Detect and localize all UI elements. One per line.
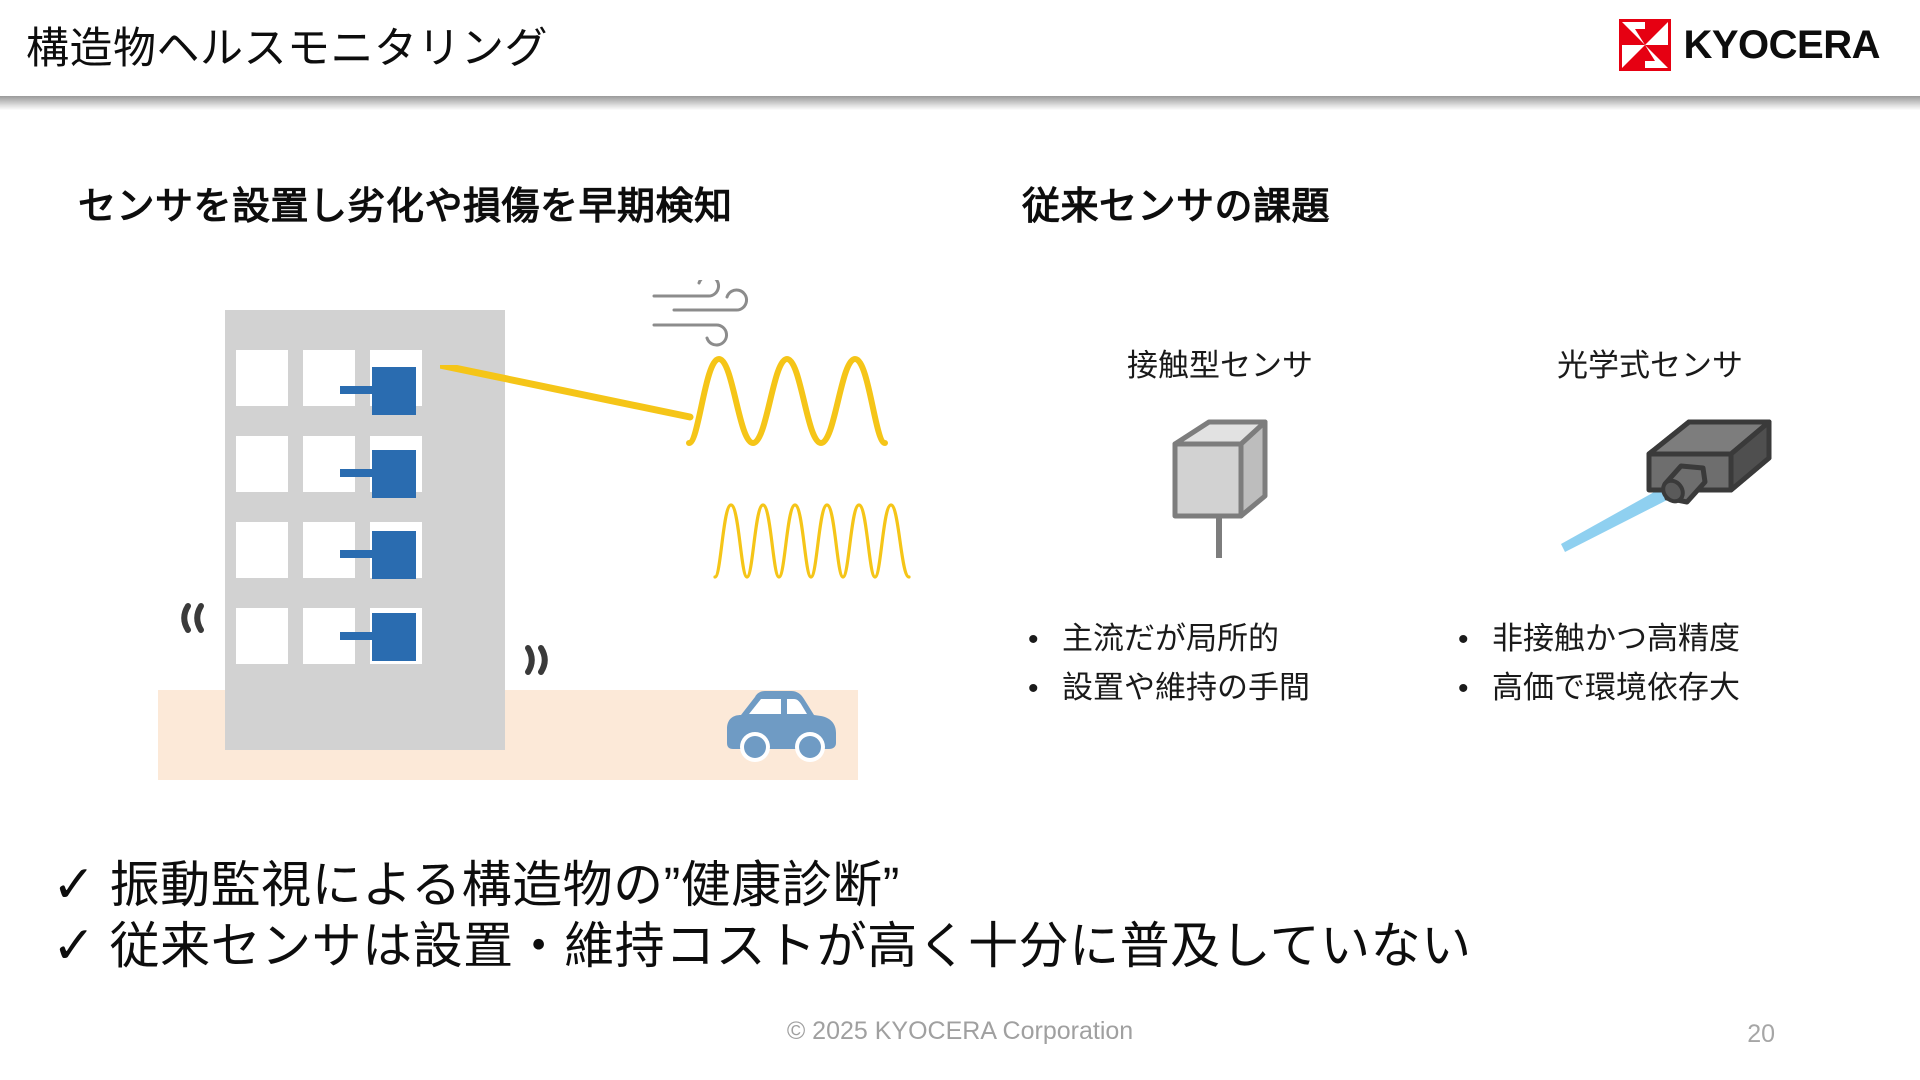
vibration-sensor	[372, 531, 416, 579]
bullet-marker-icon: •	[1458, 621, 1492, 659]
kyocera-logo-mark-icon	[1619, 19, 1671, 71]
wind-icon	[650, 280, 760, 350]
takeaway-item: ✓ 振動監視による構造物の”健康診断”	[52, 855, 1472, 916]
bullet-marker-icon: •	[1028, 670, 1062, 708]
optical-sensor-bullets: • 非接触かつ高精度 • 高価で環境依存大	[1458, 620, 1740, 718]
vibration-mark-right	[515, 642, 551, 683]
takeaway-text: 振動監視による構造物の”健康診断”	[110, 856, 900, 915]
header-divider	[0, 96, 1920, 110]
sensor-lead	[340, 632, 374, 640]
check-icon: ✓	[52, 916, 96, 977]
building-window	[236, 608, 288, 664]
waveform-low-frequency	[689, 359, 885, 443]
contact-sensor-label: 接触型センサ	[1010, 340, 1430, 385]
footer-page-number: 20	[1747, 1020, 1775, 1049]
vibration-sensor	[372, 367, 416, 415]
right-section-heading: 従来センサの課題	[1022, 175, 1330, 230]
slide-header: 構造物ヘルスモニタリング KYOCERA	[0, 0, 1920, 96]
key-takeaways: ✓ 振動監視による構造物の”健康診断” ✓ 従来センサは設置・維持コストが高く十…	[52, 855, 1472, 978]
kyocera-logo-text: KYOCERA	[1683, 25, 1880, 65]
vibration-sensor	[372, 450, 416, 498]
building-window	[236, 436, 288, 492]
contact-sensor-bullets: • 主流だが局所的 • 設置や維持の手間	[1028, 620, 1310, 718]
sensor-lead	[340, 550, 374, 558]
vibration-mark-left	[178, 600, 214, 641]
vibration-sensor	[372, 613, 416, 661]
list-item: • 主流だが局所的	[1028, 620, 1310, 659]
car-icon	[715, 685, 845, 765]
structure-monitoring-illustration	[140, 280, 900, 800]
waveform-high-frequency	[715, 505, 909, 577]
check-icon: ✓	[52, 855, 96, 916]
gray-cube-sensor-icon	[1145, 406, 1295, 571]
bullet-text: 設置や維持の手間	[1062, 669, 1310, 708]
optical-sensor-label: 光学式センサ	[1440, 340, 1860, 385]
sensor-comparison: 接触型センサ • 主流だが局所的 • 設置や維持の手間	[1010, 340, 1870, 760]
bullet-marker-icon: •	[1458, 670, 1492, 708]
page-title: 構造物ヘルスモニタリング	[26, 14, 548, 76]
building-window	[236, 522, 288, 578]
building-window	[303, 436, 355, 492]
vibration-waveforms	[685, 355, 945, 595]
sensor-to-waveform-pointer	[440, 365, 710, 435]
kyocera-logo: KYOCERA	[1619, 20, 1880, 70]
footer-copyright: © 2025 KYOCERA Corporation	[0, 1017, 1920, 1046]
list-item: • 設置や維持の手間	[1028, 669, 1310, 708]
list-item: • 非接触かつ高精度	[1458, 620, 1740, 659]
sensor-lead	[340, 386, 374, 394]
bullet-text: 非接触かつ高精度	[1492, 620, 1740, 659]
sensor-lead	[340, 469, 374, 477]
list-item: • 高価で環境依存大	[1458, 669, 1740, 708]
bullet-text: 主流だが局所的	[1062, 620, 1279, 659]
slide: 構造物ヘルスモニタリング KYOCERA センサを設置し劣化や損傷を早期検知 従…	[0, 0, 1920, 1080]
takeaway-item: ✓ 従来センサは設置・維持コストが高く十分に普及していない	[52, 916, 1472, 977]
building-window	[236, 350, 288, 406]
bullet-marker-icon: •	[1028, 621, 1062, 659]
bullet-text: 高価で環境依存大	[1492, 669, 1740, 708]
optical-laser-sensor-icon	[1553, 406, 1783, 571]
takeaway-text: 従来センサは設置・維持コストが高く十分に普及していない	[110, 917, 1472, 976]
building-window	[303, 350, 355, 406]
left-section-heading: センサを設置し劣化や損傷を早期検知	[78, 175, 733, 230]
